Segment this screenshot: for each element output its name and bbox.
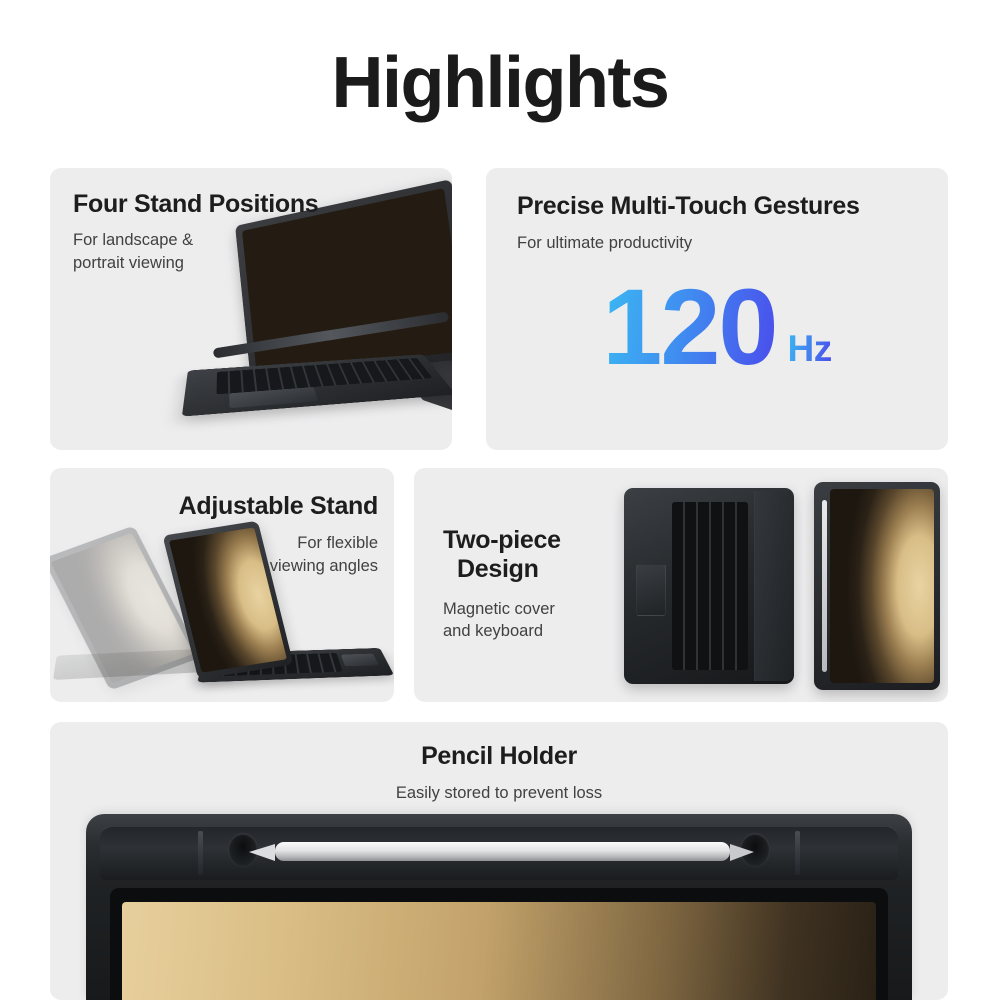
refresh-rate-stat: 120 Hz xyxy=(486,276,948,379)
card-title: Pencil Holder xyxy=(50,742,948,771)
card-title: Four Stand Positions xyxy=(73,190,318,219)
keyboard-cover-piece xyxy=(624,488,794,684)
keyboard-keys xyxy=(672,502,748,670)
page-title: Highlights xyxy=(0,46,1000,122)
card-title: Precise Multi-Touch Gestures xyxy=(517,192,860,221)
stylus xyxy=(822,500,827,672)
card-subtitle: Magnetic cover and keyboard xyxy=(443,598,561,644)
card-text-block: Adjustable Stand For flexible viewing an… xyxy=(179,492,378,577)
card-text-block: Four Stand Positions For landscape & por… xyxy=(73,190,318,274)
card-text-block: Pencil Holder Easily stored to prevent l… xyxy=(50,742,948,805)
card-title-line-1: Two-piece xyxy=(443,526,561,555)
refresh-rate-value: 120 xyxy=(602,276,776,379)
tablet-screen xyxy=(122,902,876,1000)
card-subtitle: Easily stored to prevent loss xyxy=(50,782,948,805)
card-text-block: Precise Multi-Touch Gestures For ultimat… xyxy=(517,192,860,255)
keyboard-base xyxy=(182,354,452,416)
trackpad xyxy=(341,654,379,667)
card-subtitle-line-1: For landscape & xyxy=(73,229,318,252)
highlight-card-four-stand-positions: Four Stand Positions For landscape & por… xyxy=(50,168,452,450)
pen-holder-slot xyxy=(100,826,898,880)
tablet-wallpaper xyxy=(830,489,934,683)
case-top-edge xyxy=(86,814,912,1000)
stylus-pen xyxy=(275,842,730,861)
tablet-case-piece xyxy=(814,482,940,690)
slot-rib xyxy=(795,831,800,875)
card-subtitle-line-1: Magnetic cover xyxy=(443,598,561,621)
card-subtitle-line-2: and keyboard xyxy=(443,620,561,643)
card-text-block: Two-piece Design Magnetic cover and keyb… xyxy=(443,526,561,643)
card-subtitle-line-1: For flexible xyxy=(179,532,378,555)
card-subtitle-line-2: portrait viewing xyxy=(73,252,318,275)
refresh-rate-unit: Hz xyxy=(787,330,831,367)
card-subtitle: For ultimate productivity xyxy=(517,232,860,255)
card-title-line-2: Design xyxy=(443,555,561,584)
card-subtitle: For flexible viewing angles xyxy=(179,532,378,578)
trackpad xyxy=(636,564,666,616)
magnetic-flap xyxy=(754,491,794,681)
highlight-card-adjustable-stand: Adjustable Stand For flexible viewing an… xyxy=(50,468,394,702)
highlight-card-precise-multi-touch-gestures: Precise Multi-Touch Gestures For ultimat… xyxy=(486,168,948,450)
highlight-card-pencil-holder: Pencil Holder Easily stored to prevent l… xyxy=(50,722,948,1000)
highlight-card-two-piece-design: Two-piece Design Magnetic cover and keyb… xyxy=(414,468,948,702)
card-title: Adjustable Stand xyxy=(179,492,378,521)
card-subtitle: For landscape & portrait viewing xyxy=(73,229,318,275)
slot-rib xyxy=(198,831,203,875)
card-subtitle-line-2: viewing angles xyxy=(179,555,378,578)
highlights-page: Highlights Four Stand Positions For land… xyxy=(0,0,1000,1000)
